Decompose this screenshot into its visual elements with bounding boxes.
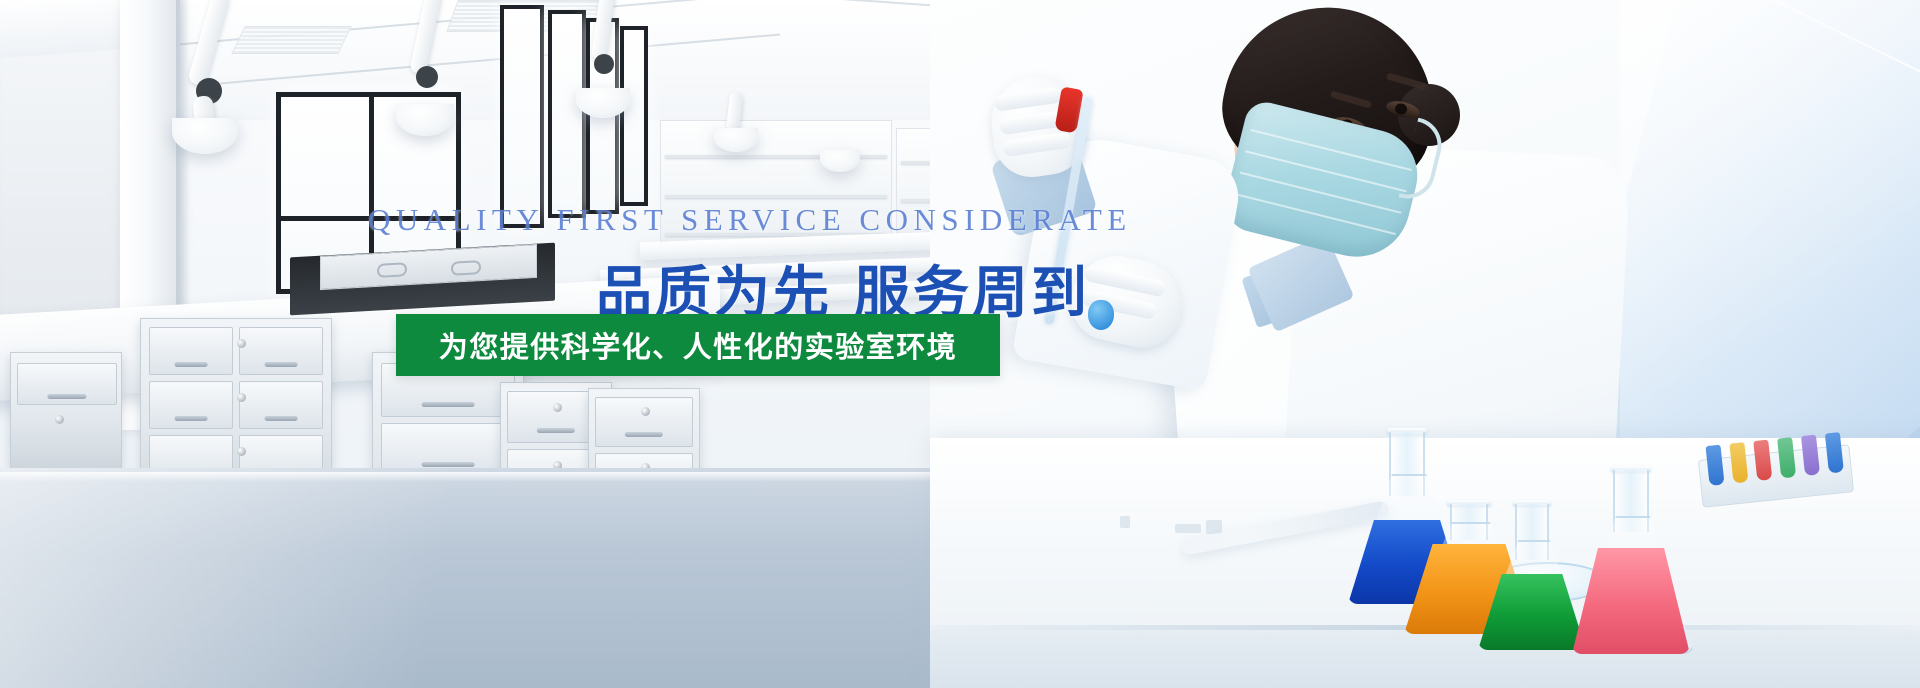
english-tagline: QUALITY FIRST SERVICE CONSIDERATE xyxy=(368,202,1132,238)
subtitle-text: 为您提供科学化、人性化的实验室环境 xyxy=(439,324,958,366)
hero-banner: QUALITY FIRST SERVICE CONSIDERATE 品质为先服务… xyxy=(0,0,1920,688)
banner-text-layer: QUALITY FIRST SERVICE CONSIDERATE 品质为先服务… xyxy=(0,0,1920,688)
subtitle-bar: 为您提供科学化、人性化的实验室环境 xyxy=(396,314,1000,376)
